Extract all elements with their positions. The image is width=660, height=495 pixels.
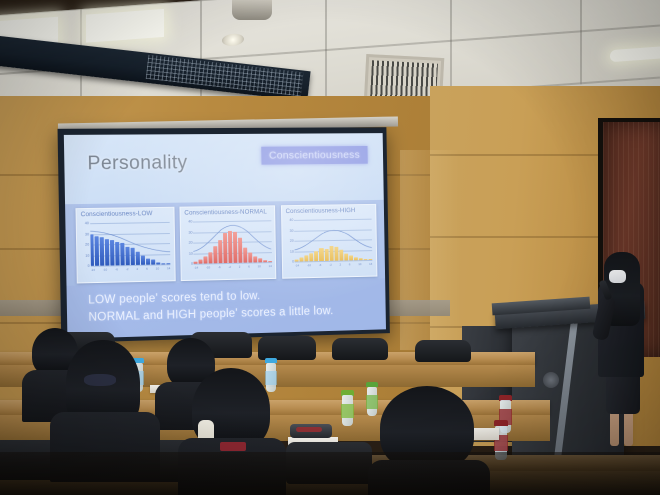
bar-series-high [294,219,372,262]
histogram-bar [368,259,372,260]
slide-footer: LOW people' scores tend to low. NORMAL a… [67,278,386,338]
chair [332,338,388,360]
y-tick: 10 [189,251,193,255]
x-tick: -10 [103,267,107,274]
histogram-bar [95,236,100,266]
histogram-bar [126,247,130,265]
y-tick: 20 [290,239,294,243]
y-tick: 20 [189,241,193,245]
y-tick: 10 [85,253,89,257]
histogram-bar [349,255,353,260]
histogram-bar [218,240,222,263]
y-tick: 40 [188,220,192,224]
chart-title-high: Conscientiousness-HIGH [285,207,355,215]
x-tick: -2 [126,267,129,274]
histogram-bar [310,253,314,261]
status-badge: Conscientiousness [261,146,368,165]
page-title: Personality [87,152,187,175]
histogram-bar [146,258,150,264]
histogram-bar [334,246,338,260]
x-tick: 14 [167,266,170,273]
histogram-bar [295,260,299,262]
histogram-bar [359,258,363,260]
histogram-bar [339,249,343,260]
wall-light-falloff [400,150,460,350]
x-tick: 6 [146,266,148,273]
x-tick: -6 [115,267,118,274]
histogram-bar [161,263,165,264]
x-tick: 6 [349,262,351,269]
histogram-bar [213,247,217,264]
x-tick: -14 [295,263,299,270]
x-tick: -2 [329,262,332,269]
y-tick: 30 [188,230,192,234]
chair [415,340,471,362]
x-tick: -14 [194,265,198,272]
x-axis-labels-normal: -14-10-6-2261014 [194,264,272,273]
histogram-bar [110,240,114,265]
histogram-bar [319,248,323,262]
histogram-bar [243,247,247,263]
chart-title-normal: Conscientiousness-NORMAL [184,209,267,217]
chart-card-normal: Conscientiousness-NORMAL 40 30 20 10 0 [179,205,276,281]
y-tick: 40 [289,218,293,222]
histogram-bar [136,251,140,265]
histogram-bar [199,260,203,264]
y-tick: 0 [191,262,193,266]
x-tick: 2 [239,264,241,271]
chart-title-low: Conscientiousness-LOW [81,210,153,218]
x-tick: -14 [90,267,94,274]
x-tick: 14 [269,264,272,271]
histogram-bar [204,256,208,263]
histogram-bar [314,251,318,261]
histogram-bar [233,232,237,263]
histogram-bar [305,255,309,261]
y-tick: 0 [292,260,294,264]
y-tick: 10 [290,249,294,253]
x-tick: 10 [258,264,261,271]
histogram-bar [329,245,333,261]
histogram-bar [105,239,110,266]
x-tick: -6 [218,265,221,272]
histogram-bar [268,261,272,262]
y-tick: 40 [85,222,89,226]
lectern-emblem [543,372,559,388]
x-tick: -6 [319,263,322,270]
chart-band: Conscientiousness-LOW 40 30 20 10 0 [65,200,385,286]
y-tick: 30 [85,232,89,236]
histogram-bar [238,238,242,263]
histogram-bar [354,257,358,260]
x-tick: 10 [156,266,159,273]
chair [258,336,316,360]
x-tick: 2 [340,262,342,269]
plot-area-normal: 40 30 20 10 0 [193,221,272,264]
histogram-bar [166,263,170,264]
plot-area-low: 40 30 20 10 0 [90,222,171,266]
chart-card-low: Conscientiousness-LOW 40 30 20 10 0 [76,207,176,284]
histogram-bar [253,256,257,262]
x-tick: -10 [307,263,311,270]
hair-tie [84,374,116,386]
lecture-hall-photo: Personality Conscientiousness Conscienti… [0,0,660,495]
ceiling-light-panel [86,9,164,43]
histogram-bar [228,231,232,263]
histogram-bar [258,258,262,262]
y-tick: 20 [85,243,89,247]
foreground-shadow [0,452,660,495]
x-tick: 10 [358,262,361,269]
face-mask [609,270,626,283]
histogram-bar [364,259,368,260]
plot-area-high: 40 30 20 10 0 [294,219,372,262]
y-tick: 0 [88,264,90,268]
histogram-bar [248,252,252,262]
y-tick: 30 [290,229,294,233]
x-tick: 6 [248,264,250,271]
histogram-bar [223,233,227,263]
histogram-bar [151,259,155,264]
x-tick: -10 [206,265,210,272]
histogram-bar [263,260,267,262]
histogram-bar [344,253,348,260]
bar-series-normal [193,221,272,264]
histogram-bar [90,234,95,266]
x-tick: -2 [228,265,231,272]
histogram-bar [194,262,198,264]
histogram-bar [156,262,160,264]
x-axis-labels-high: -14-10-6-2261014 [295,262,372,271]
histogram-bar [100,237,105,266]
histogram-bar [324,249,328,261]
histogram-bar [141,255,145,265]
chart-card-high: Conscientiousness-HIGH 40 30 20 10 0 [281,204,377,279]
histogram-bar [208,252,212,264]
histogram-bar [300,257,304,261]
bar-series-low [90,222,171,266]
x-tick: 14 [369,262,372,269]
x-axis-labels-low: -14-10-6-2261014 [90,266,170,275]
projection-screen: Personality Conscientiousness Conscienti… [58,127,390,343]
presentation-slide: Personality Conscientiousness Conscienti… [64,133,386,339]
presenter-at-lectern [596,252,648,447]
red-necktie [220,442,246,451]
ceiling-projector [232,0,272,20]
pencil-case-strap [296,427,322,432]
histogram-bar [131,248,135,265]
green-tea-bottle [341,390,354,426]
histogram-bar [115,242,119,265]
histogram-bar [120,243,124,265]
x-tick: 2 [136,267,138,274]
